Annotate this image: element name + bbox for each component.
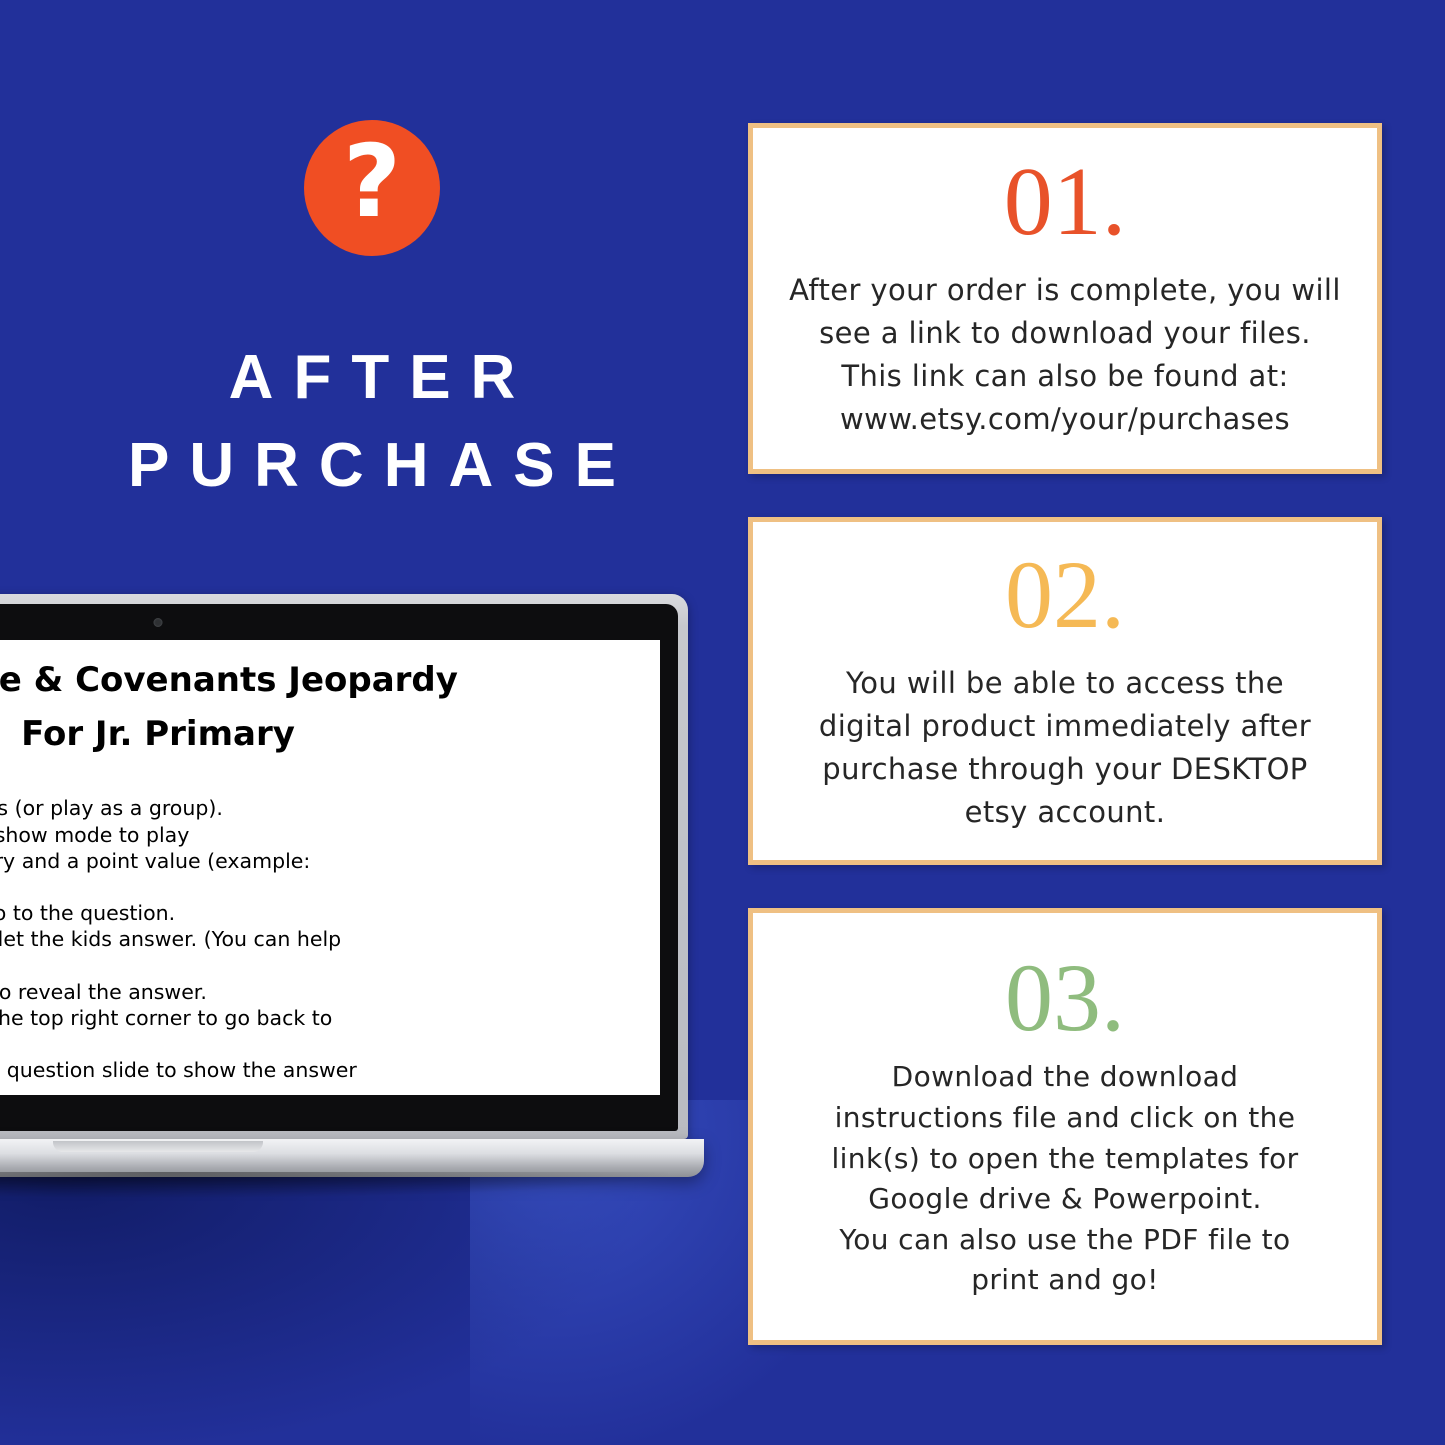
laptop-bezel: Doctrine & Covenants Jeopardy For Jr. Pr… bbox=[0, 604, 678, 1131]
list-item: Click the ➡ “Answer” button to reveal th… bbox=[0, 980, 620, 1005]
slide-instructions-heading: Game Instructions: bbox=[0, 770, 620, 794]
list-item: Divide into two or more teams (or play a… bbox=[0, 796, 620, 821]
slide-instructions-list: Divide into two or more teams (or play a… bbox=[0, 796, 620, 1095]
laptop-shadow bbox=[0, 1172, 668, 1198]
step-text-03: Download the download instructions file … bbox=[831, 1057, 1298, 1301]
laptop-lid: Doctrine & Covenants Jeopardy For Jr. Pr… bbox=[0, 594, 688, 1139]
question-mark-icon: ? bbox=[304, 120, 440, 256]
step-number-01: 01. bbox=[1004, 156, 1127, 249]
list-item: Take turns choosing a category and a poi… bbox=[0, 849, 620, 874]
headline-block: ? AFTER PURCHASE bbox=[0, 120, 744, 510]
slide-title-line-2: For Jr. Primary bbox=[0, 712, 620, 756]
list-item: is right 😃 or wrong.🚫 bbox=[0, 1085, 620, 1095]
step-card-03: 03. Download the download instructions f… bbox=[748, 908, 1382, 1345]
list-item: Read the question aloud and let the kids… bbox=[0, 927, 620, 952]
laptop-mockup: Doctrine & Covenants Jeopardy For Jr. Pr… bbox=[0, 594, 688, 1194]
step-card-01: 01. After your order is complete, you wi… bbox=[748, 123, 1382, 474]
laptop-screen: Doctrine & Covenants Jeopardy For Jr. Pr… bbox=[0, 640, 660, 1095]
question-mark-glyph: ? bbox=[343, 132, 401, 232]
list-item: the game board. bbox=[0, 1032, 620, 1057]
step-number-02: 02. bbox=[1005, 549, 1125, 640]
step-text-01: After your order is complete, you will s… bbox=[789, 269, 1341, 441]
list-item: Use the sound buttons on the question sl… bbox=[0, 1058, 620, 1083]
step-card-02: 02. You will be able to access the digit… bbox=[748, 517, 1382, 865]
page-title-line-1: AFTER bbox=[0, 334, 744, 422]
step-number-03: 03. bbox=[1005, 952, 1125, 1043]
list-item: Click the 🏠 Home button in the top right… bbox=[0, 1006, 620, 1031]
page-title-line-2: PURCHASE bbox=[0, 422, 744, 510]
list-item: Click on the number box to go to the que… bbox=[0, 901, 620, 926]
poster-canvas: ? AFTER PURCHASE 01. After your order is… bbox=[0, 0, 1445, 1445]
list-item: them as needed!) bbox=[0, 954, 620, 979]
webcam-icon bbox=[154, 618, 163, 627]
step-text-02: You will be able to access the digital p… bbox=[819, 662, 1311, 834]
slide-title-line-1: Doctrine & Covenants Jeopardy bbox=[0, 658, 620, 702]
list-item: Go into presentation or slide show mode … bbox=[0, 823, 620, 848]
list-item: Articles of Faith for 10"). bbox=[0, 875, 620, 900]
laptop-base-notch bbox=[53, 1141, 263, 1152]
